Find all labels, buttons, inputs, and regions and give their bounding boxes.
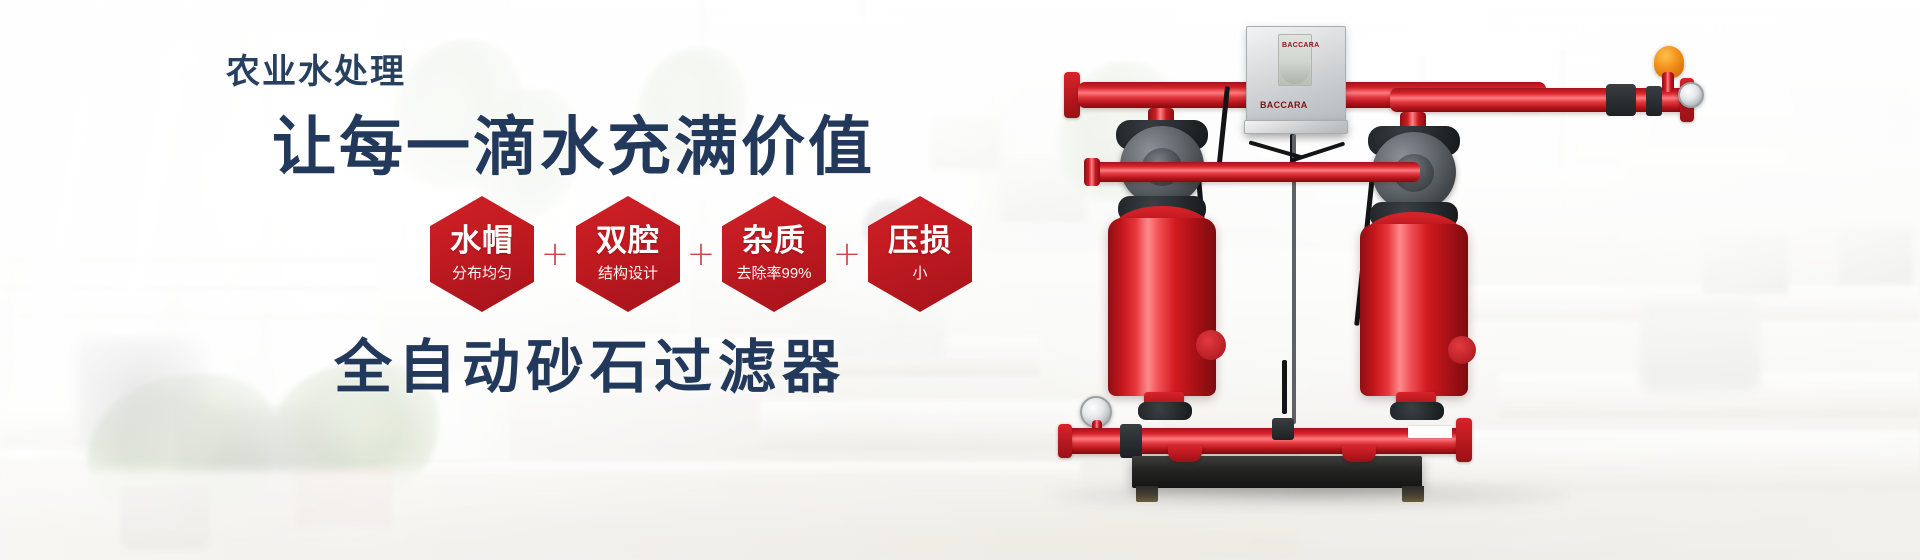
riser-pipe: [1662, 72, 1674, 92]
bottom-pipe-clamp: [1120, 424, 1142, 458]
base-riser-left: [1168, 446, 1202, 462]
plus-separator-2: +: [680, 237, 722, 271]
plus-separator-3: +: [826, 237, 868, 271]
bottom-pipe-outlet-flange: [1456, 418, 1472, 462]
pressure-gauge-top: [1678, 82, 1704, 108]
controller-brand-logo: BACCARA: [1282, 42, 1320, 49]
main-headline: 让每一滴水充满价值: [272, 96, 875, 188]
feature-badge-2-title: 双腔: [596, 225, 660, 258]
feature-badge-2-subtitle: 结构设计: [598, 262, 658, 283]
base-riser-right: [1342, 446, 1376, 462]
controller-base-plate: [1244, 120, 1348, 134]
pipe-collar: [1646, 86, 1662, 116]
tank1-body: [1108, 218, 1216, 396]
feature-badge-row: 水帽 分布均匀 + 双腔 结构设计 + 杂质 去除率99% + 压损 小: [430, 196, 972, 312]
tank2-drain-collar: [1448, 336, 1476, 364]
feature-badge-3-subtitle: 去除率99%: [736, 262, 811, 283]
feature-badge-3-title: 杂质: [742, 225, 806, 258]
solenoid-wire: [1282, 360, 1287, 414]
feature-badge-2[interactable]: 双腔 结构设计: [576, 196, 680, 312]
eyebrow-text: 农业水处理: [226, 44, 406, 93]
tank2-body: [1360, 224, 1468, 396]
base-foot-left: [1136, 486, 1158, 502]
tank1-bottom-clamp: [1138, 402, 1192, 420]
tank2-bottom-clamp: [1390, 402, 1444, 420]
feature-badge-1-subtitle: 分布均匀: [452, 262, 512, 283]
controller-brand-label: BACCARA: [1260, 100, 1308, 110]
bottom-pipe-clamp: [1272, 418, 1294, 440]
feature-badge-3[interactable]: 杂质 去除率99%: [722, 196, 826, 312]
base-foot-right: [1402, 486, 1424, 502]
feature-badge-4-subtitle: 小: [912, 262, 927, 283]
feature-badge-1-title: 水帽: [450, 225, 514, 258]
pipe-collar: [1606, 84, 1636, 116]
top-header-pipe-right: [1390, 88, 1690, 112]
hero-banner: BACCARA BACCARA: [0, 0, 1920, 560]
product-title: 全自动砂石过滤器: [334, 320, 846, 404]
plus-separator-1: +: [534, 237, 576, 271]
product-sand-filter: BACCARA BACCARA: [990, 0, 1920, 560]
mid-connecting-pipe: [1090, 162, 1420, 182]
feature-badge-4[interactable]: 压损 小: [868, 196, 972, 312]
feature-badge-1[interactable]: 水帽 分布均匀: [430, 196, 534, 312]
controller-wire: [1291, 141, 1345, 162]
product-label-tag: [1408, 426, 1452, 438]
feature-badge-4-title: 压损: [888, 225, 952, 258]
tank1-drain-collar: [1196, 330, 1226, 360]
